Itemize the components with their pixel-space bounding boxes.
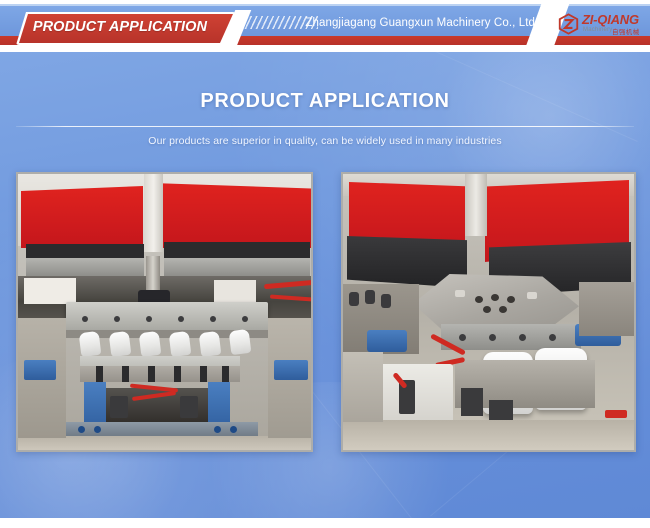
molded-bottle [139, 331, 162, 357]
left-blue-clamp [24, 360, 56, 380]
molded-bottle [199, 331, 222, 357]
mold-block-upper [66, 302, 268, 332]
left-nozzle [381, 294, 391, 308]
red-guard-left [21, 186, 143, 248]
mold-slot [222, 366, 229, 382]
molded-bottle [169, 331, 192, 357]
mold-slot [122, 366, 129, 382]
base-block [461, 388, 483, 416]
center-spindle [146, 256, 160, 292]
crossbeam-left-dark [26, 244, 144, 258]
platen-hole [491, 294, 499, 301]
rail-bolt [549, 334, 556, 341]
ziqiang-hexagon-logo-icon [558, 13, 579, 35]
logo-chinese-name: 自强机械 [612, 26, 640, 36]
platen-hole [499, 306, 507, 313]
floor [18, 436, 311, 450]
right-equipment [579, 282, 634, 336]
side-block-right [214, 280, 256, 302]
beam-right-steel [164, 258, 310, 276]
footer-banner: APPLICATION DIAGRAM [0, 500, 650, 518]
rail-bolt [519, 334, 526, 341]
crossbeam-right-dark [164, 242, 310, 258]
plate-bolt [94, 426, 101, 433]
molded-bottle [109, 331, 132, 357]
base-block [489, 400, 513, 420]
content-stage: PRODUCT APPLICATION Our products are sup… [0, 52, 650, 518]
hose-red-4 [605, 410, 627, 418]
mold-bolt [146, 316, 152, 322]
company-name: Zhangjiagang Guangxun Machinery Co., Ltd [320, 13, 535, 32]
platen-hole [483, 306, 491, 313]
floor-left-edge [343, 352, 383, 422]
platen-insert [455, 290, 465, 297]
molded-bottle [229, 329, 252, 355]
side-block-left [24, 278, 76, 304]
page-header: PRODUCT APPLICATION Zhangjiagang Guangxu… [0, 0, 650, 52]
base-module [180, 396, 198, 418]
beam-left-steel [26, 258, 144, 276]
product-photo-right[interactable] [341, 172, 636, 452]
mold-slot [200, 366, 207, 382]
product-application-tag: PRODUCT APPLICATION [16, 12, 236, 45]
center-column [144, 174, 163, 252]
logo-wordmark: ZI-QIANG [582, 12, 639, 27]
molded-bottle [79, 331, 102, 357]
red-guard-right [163, 182, 311, 248]
mold-bolt [210, 316, 216, 322]
base-module [110, 396, 128, 418]
page-subtitle: Our products are superior in quality, ca… [0, 135, 650, 147]
mold-bolt [178, 316, 184, 322]
mold-slot [174, 366, 181, 382]
photo-right-content [343, 174, 634, 450]
right-blue-clamp [274, 360, 308, 380]
logo-subtext: Machinery [583, 27, 612, 33]
platen-hole [475, 296, 483, 303]
plate-bolt [78, 426, 85, 433]
center-gap-column [465, 174, 487, 236]
platen-insert [527, 292, 537, 299]
mold-bolt [82, 316, 88, 322]
left-nozzle [349, 292, 359, 306]
rail-bolt [459, 334, 466, 341]
rail-bolt [489, 334, 496, 341]
plate-bolt [214, 426, 221, 433]
photo-left-content [18, 174, 311, 450]
mold-slot [96, 366, 103, 382]
white-guard-panel [379, 364, 453, 428]
bottom-white-strip [0, 518, 650, 528]
title-divider [16, 126, 634, 127]
page-title: PRODUCT APPLICATION [0, 90, 650, 113]
lower-mold-face [80, 366, 240, 382]
tag-label: PRODUCT APPLICATION [16, 12, 230, 41]
mold-slot [148, 366, 155, 382]
plate-bolt [230, 426, 237, 433]
floor [343, 420, 634, 450]
company-logo[interactable]: ZI-QIANG Machinery 自强机械 [558, 12, 644, 38]
blue-fixture-left [367, 330, 407, 352]
left-nozzle [365, 290, 375, 304]
mold-bolt [114, 316, 120, 322]
product-photo-left[interactable] [16, 172, 313, 452]
mold-bolt [242, 316, 248, 322]
platen-hole [507, 296, 515, 303]
